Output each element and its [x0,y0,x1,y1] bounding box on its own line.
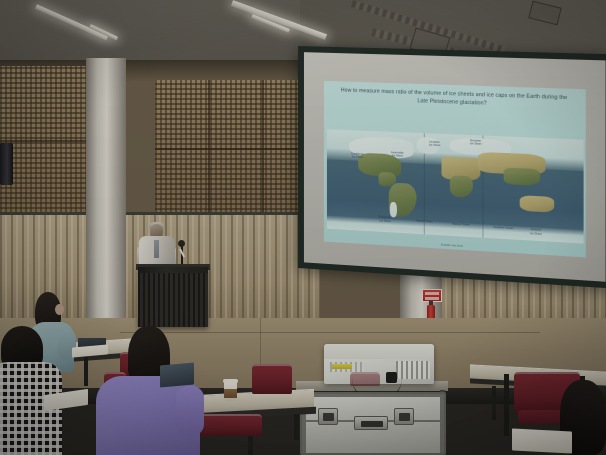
projector-vent-grille [396,361,430,379]
coffee-cup [224,381,237,401]
chair [200,414,262,436]
lecture-hall-photo: How to measure mass ratio of the volume … [0,0,606,455]
projector-label-sticker [332,364,352,369]
map-label: EurasianIce Sheet [470,139,482,146]
tablet-device [160,363,194,388]
microphone-head [178,240,185,247]
southern-africa-landmass [449,175,472,199]
southeast-asia-landmass [504,167,541,185]
projected-slide: How to measure mass ratio of the volume … [324,81,586,258]
attendee-face [55,304,64,315]
cup-lid [223,379,238,383]
australia-landmass [519,195,553,213]
case-latch [394,408,414,425]
acoustic-panel [155,80,315,220]
case-latch [318,408,338,425]
podium [138,267,208,327]
chair [350,372,380,386]
map-label: LaurentideIce Sheet [391,151,404,158]
projection-screen-surface: How to measure mass ratio of the volume … [304,52,606,282]
panel-seam [208,80,210,220]
paper-documents [512,428,572,453]
map-label: InnuitianIce Sheet [429,140,440,147]
wall-speaker [0,143,13,185]
chair [252,364,292,394]
presenter-shirt-detail [154,240,159,258]
map-label: PatagonianIce Sheet [378,216,391,223]
projector-top-cover [324,344,434,359]
case-handle [354,416,388,430]
slide-title: How to measure mass ratio of the volume … [336,88,572,111]
attendee-arm [176,386,204,436]
cup-sleeve [224,389,237,398]
map-label: CordilleranIce Sheet [351,152,364,159]
panel-seam [155,148,315,150]
slide-world-map: CordilleranIce Sheet LaurentideIce Sheet… [326,129,583,244]
panel-seam [262,80,264,220]
structural-column [86,58,126,336]
map-label: AntarcticIce Sheet [530,228,542,235]
podium-panel-texture [138,273,208,327]
projection-screen-frame: How to measure mass ratio of the volume … [298,46,606,288]
